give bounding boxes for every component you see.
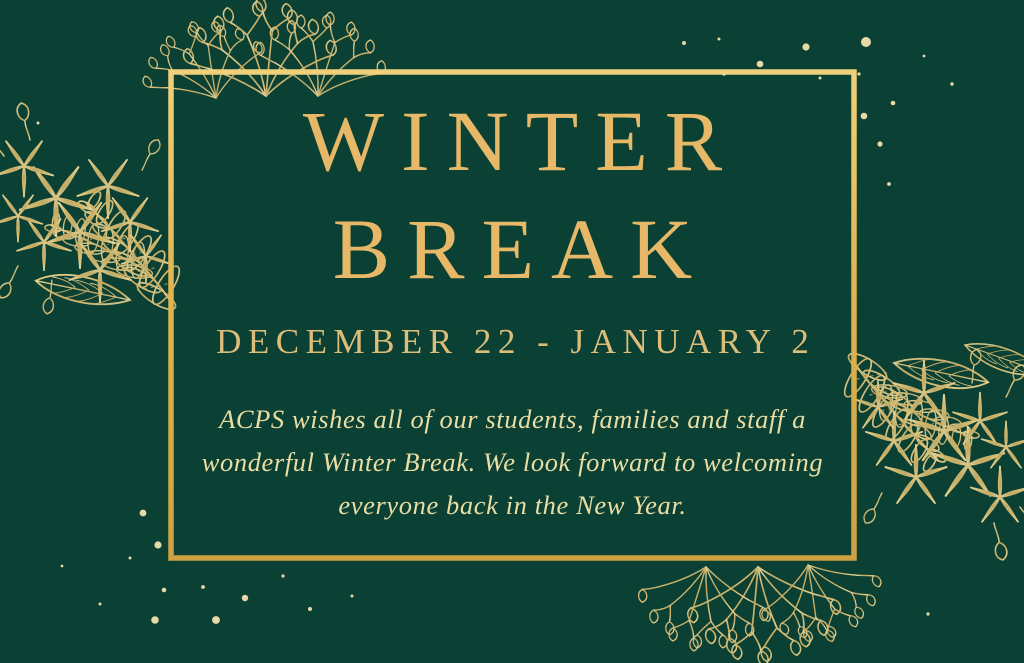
poster-title-line-2: BREAK	[316, 206, 709, 292]
poster-message: ACPS wishes all of our students, familie…	[193, 398, 833, 527]
poster-date-range: DECEMBER 22 - JANUARY 2	[210, 322, 816, 362]
poster-title-line-1: WINTER	[286, 98, 739, 184]
winter-break-poster: WINTER BREAK DECEMBER 22 - JANUARY 2 ACP…	[0, 0, 1024, 663]
